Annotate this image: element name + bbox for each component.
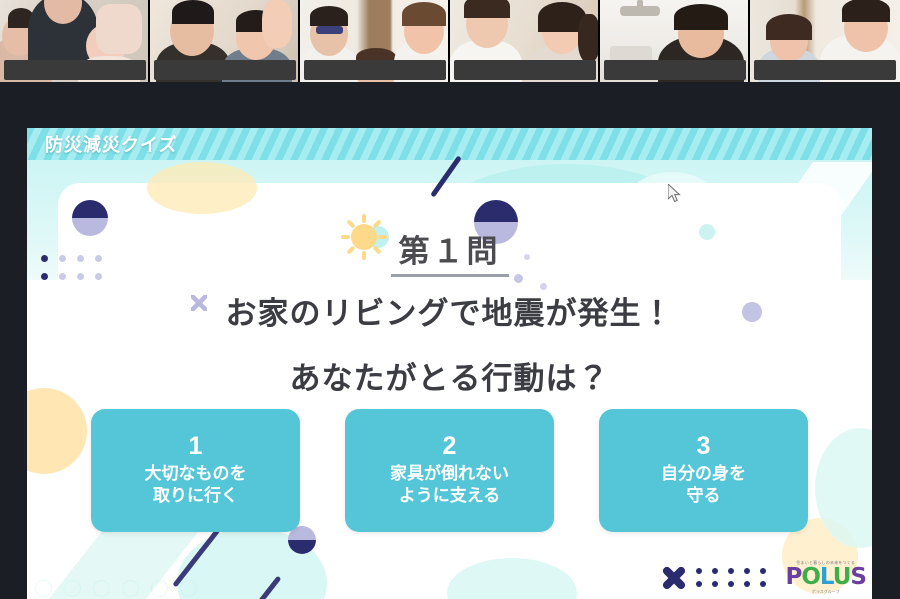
polus-tagline-bottom: ポラスグループ [812, 590, 840, 594]
sun-ray [362, 214, 366, 223]
x-mark-icon [661, 565, 687, 591]
participant-name-bar [154, 60, 296, 80]
logo-dot [760, 581, 766, 587]
slide-banner: 防災減災クイズ [27, 128, 872, 160]
faded-icon-row [35, 580, 197, 597]
brand-logo: 住まいと暮らしの未来をつくる POLUS ポラスグループ [661, 561, 866, 594]
answer-text-line-1: 自分の身を [661, 463, 746, 485]
logo-dot [696, 568, 702, 574]
meeting-window: 防災減災クイズ [0, 0, 900, 599]
answer-text-line-2: 守る [687, 485, 721, 507]
logo-dot [696, 581, 702, 587]
logo-dot [712, 581, 718, 587]
faded-play-icon [64, 580, 81, 597]
polus-letter-p: P [785, 564, 801, 590]
faded-search-icon [151, 580, 168, 597]
answer-text-line-1: 大切なものを [145, 463, 247, 485]
answer-choice-1[interactable]: 1 大切なものを 取りに行く [91, 409, 300, 532]
answer-text-line-2: 取りに行く [153, 485, 238, 507]
faded-clock-icon [35, 580, 52, 597]
participant-tile-5[interactable] [600, 0, 750, 82]
participant-tile-2[interactable] [150, 0, 300, 82]
participant-tile-6[interactable] [750, 0, 900, 82]
yellow-blob-top [147, 162, 257, 214]
answer-text-line-2: ように支える [399, 485, 501, 507]
polus-logo: 住まいと暮らしの未来をつくる POLUS ポラスグループ [785, 561, 866, 594]
slide-banner-title: 防災減災クイズ [45, 131, 177, 157]
answer-text-line-1: 家具が倒れない [390, 463, 509, 485]
faded-circle-icon [180, 580, 197, 597]
question-line-2: あなたがとる行動は？ [27, 353, 872, 398]
mint-blob-bottom-mid [447, 558, 577, 599]
participant-filmstrip [0, 0, 900, 82]
participant-name-bar [304, 60, 446, 80]
logo-dot-grid [696, 565, 776, 591]
logo-dot [744, 581, 750, 587]
logo-dot [728, 568, 734, 574]
answer-choice-2[interactable]: 2 家具が倒れない ように支える [345, 409, 554, 532]
logo-dot [760, 568, 766, 574]
answer-number: 2 [443, 433, 457, 459]
polus-letter-l: L [820, 564, 833, 590]
polus-letter-o: O [801, 564, 820, 590]
participant-tile-3[interactable] [300, 0, 450, 82]
mouse-cursor [668, 184, 681, 203]
participant-tile-1[interactable] [0, 0, 150, 82]
polus-letter-u: U [833, 564, 851, 590]
question-number: 第１問 [391, 226, 509, 277]
navy-diagonal-bar-top [430, 155, 462, 197]
shared-slide[interactable]: 防災減災クイズ [27, 128, 872, 599]
answer-number: 1 [189, 433, 203, 459]
logo-dot [744, 568, 750, 574]
navy-diagonal-bar-bottom-2 [257, 576, 282, 599]
question-number-row: 第１問 [27, 226, 872, 277]
participant-name-bar [4, 60, 146, 80]
mint-blob-bottom-left [177, 528, 327, 599]
answer-number: 3 [697, 433, 711, 459]
answer-choice-list: 1 大切なものを 取りに行く 2 家具が倒れない ように支える 3 自分の身を … [27, 409, 872, 532]
logo-dot [712, 568, 718, 574]
polus-wordmark: POLUS [785, 566, 866, 589]
answer-choice-3[interactable]: 3 自分の身を 守る [599, 409, 808, 532]
faded-home-icon [122, 580, 139, 597]
participant-tile-4[interactable] [450, 0, 600, 82]
participant-name-bar [604, 60, 746, 80]
question-line-1: お家のリビングで地震が発生！ [27, 288, 872, 333]
faded-compass-icon [93, 580, 110, 597]
logo-dot [728, 581, 734, 587]
participant-name-bar [754, 60, 896, 80]
polus-letter-s: S [850, 564, 866, 590]
participant-name-bar [454, 60, 596, 80]
